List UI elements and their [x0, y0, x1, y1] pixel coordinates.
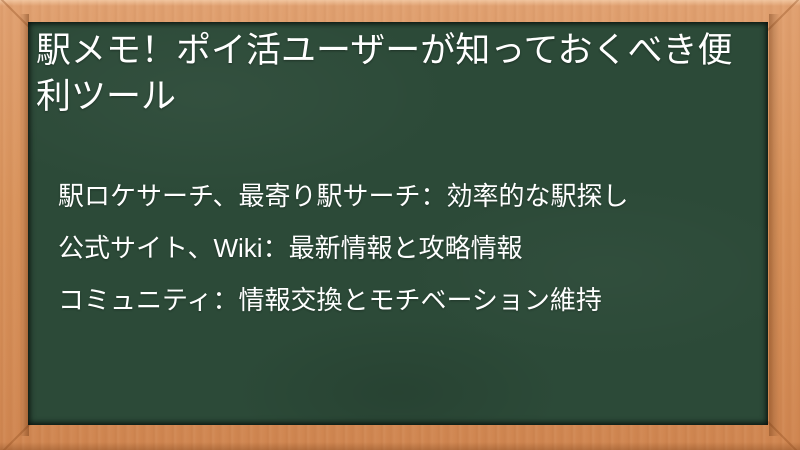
- frame-bevel-bottom: [0, 442, 800, 450]
- frame-mitre-bottom-right: [767, 421, 800, 450]
- frame-mitre-bottom-left: [0, 421, 33, 450]
- board-content: 駅メモ！ポイ活ユーザーが知っておくべき便利ツール 駅ロケサーチ、最寄り駅サーチ：…: [28, 22, 768, 425]
- list-item: 公式サイト、Wiki：最新情報と攻略情報: [58, 222, 758, 274]
- frame-bevel-top: [0, 0, 800, 6]
- chalkboard-slide: 駅メモ！ポイ活ユーザーが知っておくべき便利ツール 駅ロケサーチ、最寄り駅サーチ：…: [0, 0, 800, 450]
- frame-mitre-top-right: [767, 0, 800, 31]
- slide-title: 駅メモ！ポイ活ユーザーが知っておくべき便利ツール: [36, 28, 752, 120]
- list-item: 駅ロケサーチ、最寄り駅サーチ：効率的な駅探し: [58, 170, 758, 222]
- bullet-list: 駅ロケサーチ、最寄り駅サーチ：効率的な駅探し 公式サイト、Wiki：最新情報と攻…: [58, 170, 758, 326]
- frame-inner-shadow-right: [769, 14, 780, 436]
- chalkboard-surface: 駅メモ！ポイ活ユーザーが知っておくべき便利ツール 駅ロケサーチ、最寄り駅サーチ：…: [28, 22, 768, 425]
- list-item: コミュニティ：情報交換とモチベーション維持: [58, 274, 758, 326]
